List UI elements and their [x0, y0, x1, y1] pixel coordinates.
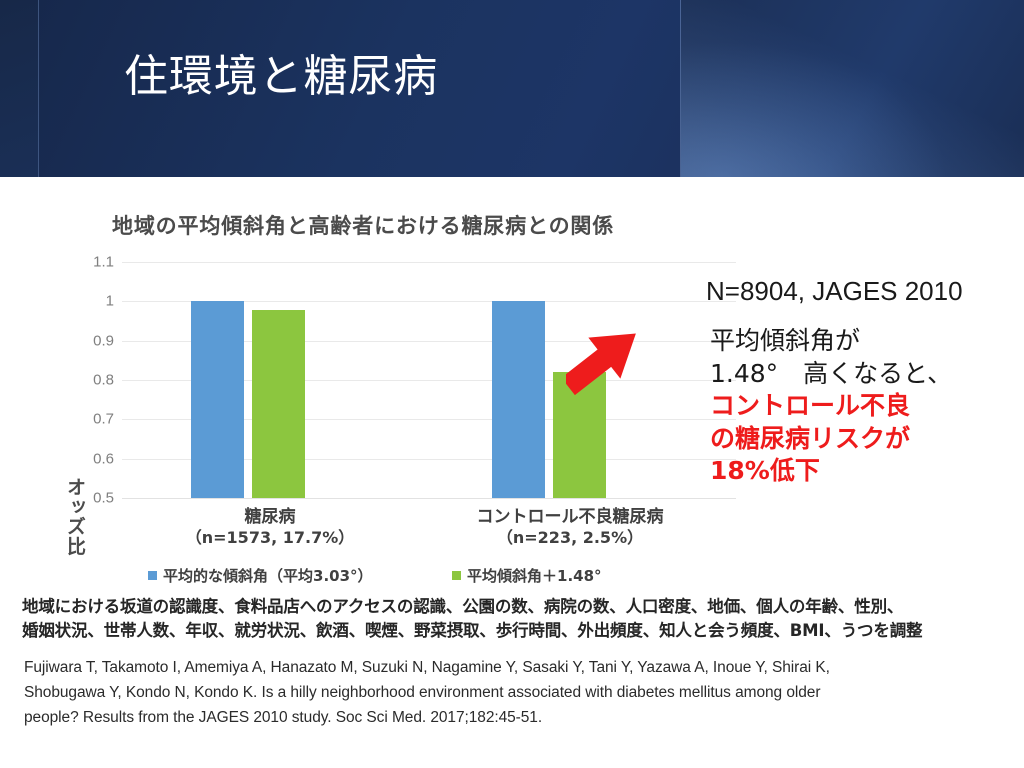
citation-line-2: Shobugawa Y, Kondo N, Kondo K. Is a hill…	[24, 680, 999, 705]
x-category-label-2: コントロール不良糖尿病 （n=223, 2.5%）	[440, 507, 700, 548]
finding-line-2: 1.48° 高くなると、	[710, 358, 1010, 391]
y-tick-label: 1	[106, 293, 114, 310]
chart-y-axis-title: オッズ比	[62, 477, 89, 556]
legend-swatch-green	[452, 571, 461, 580]
legend-item-average-slope: 平均的な傾斜角（平均3.03°）	[148, 565, 373, 586]
adjustment-note: 地域における坂道の認識度、食料品店へのアクセスの認識、公園の数、病院の数、人口密…	[22, 595, 1007, 644]
y-tick-label: 0.7	[93, 411, 114, 428]
y-tick-label: 1.1	[93, 254, 114, 271]
x-category-label-1: 糖尿病 （n=1573, 17.7%）	[140, 507, 400, 548]
header-glow	[681, 36, 1024, 177]
slide-body: 地域の平均傾斜角と高齢者における糖尿病との関係 オッズ比 1.1 1 0.9 0…	[0, 177, 1024, 768]
bar-uncontrolled-average-slope	[492, 301, 545, 498]
gridline	[122, 498, 736, 499]
y-tick-label: 0.6	[93, 450, 114, 467]
chart-plot-area: 1.1 1 0.9 0.8 0.7 0.6 0.5	[122, 262, 736, 498]
finding-line-5: 18%低下	[710, 455, 1010, 488]
legend-item-plus-slope: 平均傾斜角＋1.48°	[452, 565, 602, 586]
finding-annotation: 平均傾斜角が 1.48° 高くなると、 コントロール不良 の糖尿病リスクが 18…	[710, 325, 1010, 488]
adjustment-line-1: 地域における坂道の認識度、食料品店へのアクセスの認識、公園の数、病院の数、人口密…	[22, 595, 1007, 619]
chart-title: 地域の平均傾斜角と高齢者における糖尿病との関係	[112, 210, 614, 240]
legend-label-average-slope: 平均的な傾斜角（平均3.03°）	[163, 565, 373, 586]
y-tick-label: 0.5	[93, 490, 114, 507]
legend-swatch-blue	[148, 571, 157, 580]
finding-line-4: の糖尿病リスクが	[710, 423, 1010, 456]
citation-line-3: people? Results from the JAGES 2010 stud…	[24, 705, 999, 730]
legend-label-plus-slope: 平均傾斜角＋1.48°	[467, 565, 602, 586]
slide: 住環境と糖尿病 地域の平均傾斜角と高齢者における糖尿病との関係 オッズ比 1.1…	[0, 0, 1024, 768]
bar-diabetes-average-slope	[191, 301, 244, 498]
y-tick-label: 0.9	[93, 332, 114, 349]
y-tick-label: 0.8	[93, 372, 114, 389]
header-left-strip	[0, 0, 38, 177]
red-down-arrow-icon	[566, 317, 638, 403]
gridline	[122, 262, 736, 263]
citation: Fujiwara T, Takamoto I, Amemiya A, Hanaz…	[24, 655, 999, 730]
x-category-name-1: 糖尿病	[245, 507, 296, 527]
citation-line-1: Fujiwara T, Takamoto I, Amemiya A, Hanaz…	[24, 655, 999, 680]
finding-line-3: コントロール不良	[710, 390, 1010, 423]
sample-size-annotation: N=8904, JAGES 2010	[706, 276, 963, 307]
page-title: 住環境と糖尿病	[124, 52, 438, 103]
x-category-sub-1: （n=1573, 17.7%）	[140, 528, 400, 548]
slide-header: 住環境と糖尿病	[0, 0, 1024, 177]
x-category-sub-2: （n=223, 2.5%）	[440, 528, 700, 548]
x-category-name-2: コントロール不良糖尿病	[477, 507, 664, 527]
adjustment-line-2: 婚姻状況、世帯人数、年収、就労状況、飲酒、喫煙、野菜摂取、歩行時間、外出頻度、知…	[22, 619, 1007, 643]
header-left-divider	[38, 0, 39, 177]
finding-line-1: 平均傾斜角が	[710, 325, 1010, 358]
bar-diabetes-plus-slope	[252, 310, 305, 498]
